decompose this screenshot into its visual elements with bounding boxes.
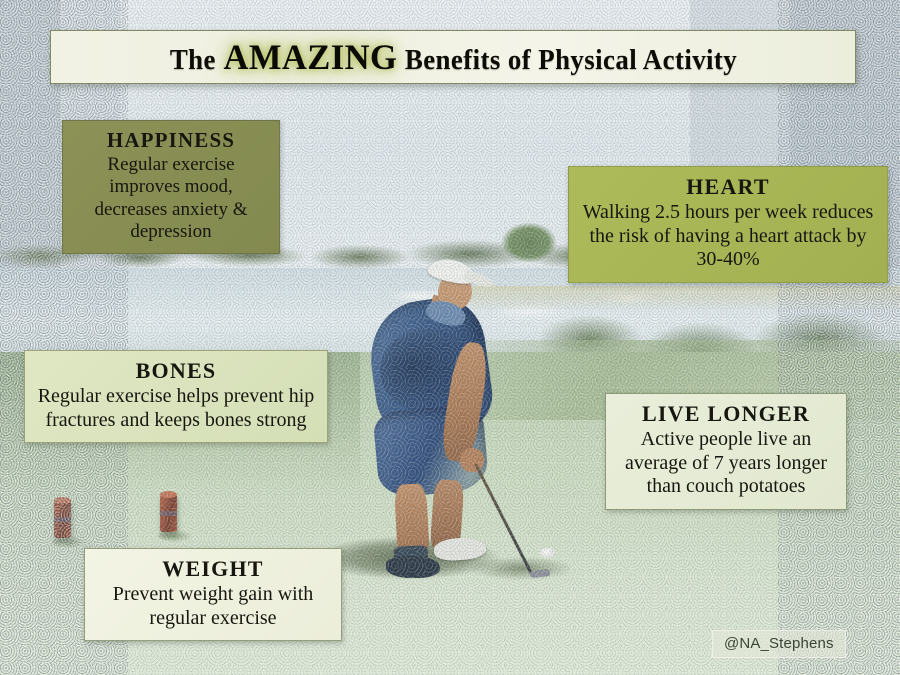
infographic-poster: TheAMAZINGBenefits of Physical Activity …: [0, 0, 900, 675]
benefit-body-bones: Regular exercise helps prevent hip fract…: [37, 385, 315, 432]
benefit-card-bones: BONES Regular exercise helps prevent hip…: [24, 350, 328, 443]
poster-title-bar: TheAMAZINGBenefits of Physical Activity: [50, 30, 856, 84]
grain-band-right: [778, 0, 900, 675]
benefit-heading-heart: HEART: [581, 174, 875, 200]
benefit-body-heart: Walking 2.5 hours per week reduces the r…: [581, 201, 875, 272]
attribution-watermark: @NA_Stephens: [712, 630, 846, 658]
benefit-heading-live-longer: LIVE LONGER: [618, 401, 834, 427]
title-word-rest: Benefits of Physical Activity: [404, 45, 736, 76]
benefit-card-happiness: HAPPINESS Regular exercise improves mood…: [62, 120, 280, 254]
title-word-the: The: [169, 45, 215, 76]
benefit-body-weight: Prevent weight gain with regular exercis…: [97, 583, 329, 630]
benefit-card-weight: WEIGHT Prevent weight gain with regular …: [84, 548, 342, 641]
benefit-heading-happiness: HAPPINESS: [75, 128, 267, 153]
benefit-card-heart: HEART Walking 2.5 hours per week reduces…: [568, 166, 888, 283]
page-title: TheAMAZINGBenefits of Physical Activity: [169, 36, 736, 78]
benefit-card-live-longer: LIVE LONGER Active people live an averag…: [605, 393, 847, 510]
title-word-amazing: AMAZING: [223, 37, 397, 77]
benefit-body-happiness: Regular exercise improves mood, decrease…: [75, 154, 267, 244]
benefit-heading-weight: WEIGHT: [97, 556, 329, 582]
benefit-heading-bones: BONES: [37, 358, 315, 384]
benefit-body-live-longer: Active people live an average of 7 years…: [618, 428, 834, 499]
